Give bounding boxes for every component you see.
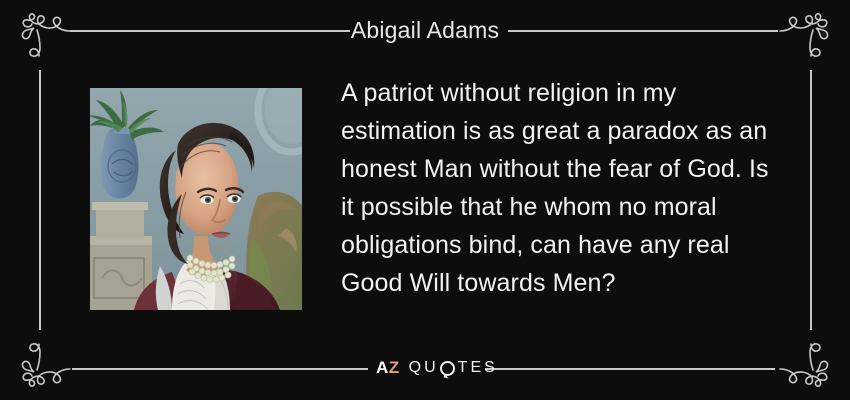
author-portrait — [90, 88, 302, 310]
frame-line-bottom-right — [485, 368, 775, 370]
logo-quotes-part2: TES — [458, 358, 498, 378]
logo-az-mark: AZ — [376, 358, 400, 378]
logo-letter-a: A — [376, 358, 389, 377]
logo-quotes-word: QU TES — [409, 358, 498, 378]
quote-card: Abigail Adams — [0, 0, 850, 400]
page-title: Abigail Adams — [0, 14, 850, 46]
speech-bubble-icon — [440, 361, 455, 376]
frame-line-left — [39, 70, 41, 330]
frame-line-right — [810, 70, 812, 330]
corner-flourish-bottom-right-icon — [774, 338, 840, 394]
quote-body: A patriot without religion in my estimat… — [341, 74, 771, 302]
logo-letter-z: Z — [389, 358, 400, 377]
logo-quotes-part1: QU — [409, 358, 439, 378]
azquotes-logo[interactable]: AZ QU TES — [376, 358, 498, 378]
frame-line-bottom-left — [72, 368, 368, 370]
corner-flourish-bottom-left-icon — [10, 338, 76, 394]
